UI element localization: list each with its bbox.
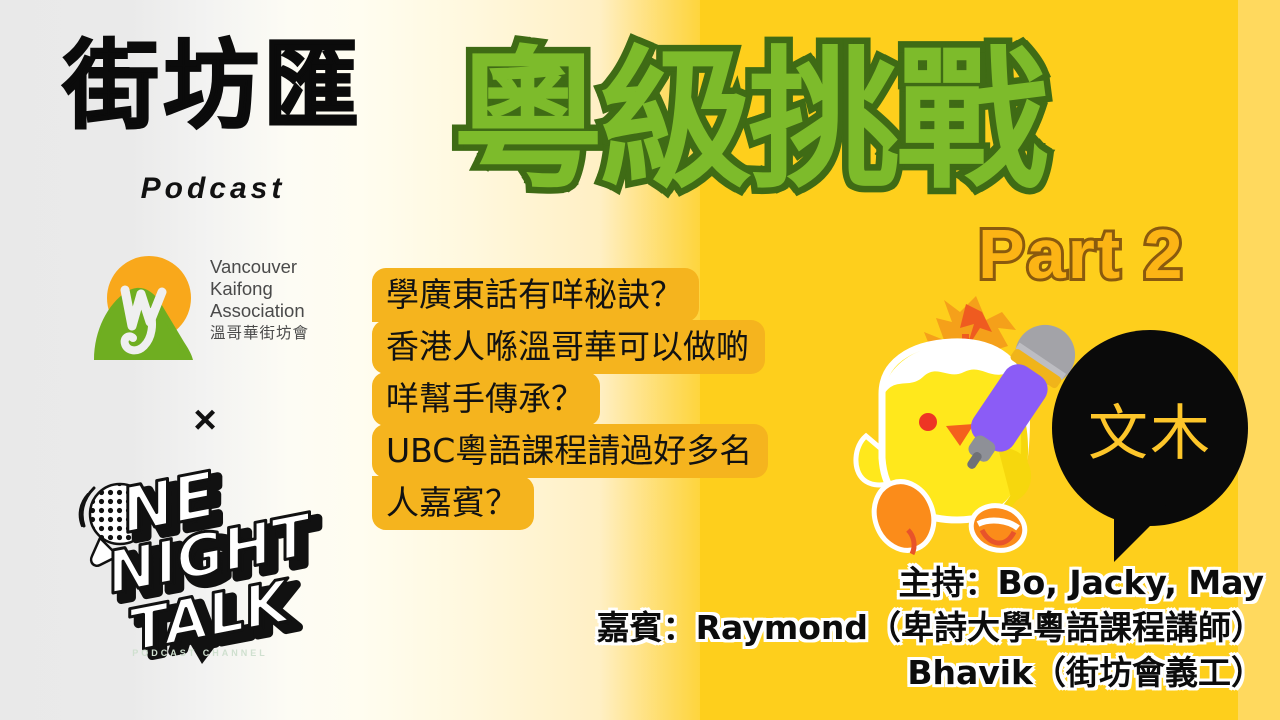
question-line: 咩幫手傳承？ xyxy=(372,372,600,426)
partner-separator-x: × xyxy=(160,398,250,443)
vka-sun-mountain-icon xyxy=(92,252,202,364)
vka-name-block: Vancouver Kaifong Association 溫哥華街坊會 xyxy=(210,256,344,343)
episode-title: 粵級挑戰 xyxy=(452,26,1192,216)
poster-canvas: 街坊匯 Podcast Vancouver Kaifong Associatio… xyxy=(0,0,1280,720)
vka-name-line1: Vancouver xyxy=(210,256,344,278)
credits-block: 主持：Bo, Jacky, May 嘉賓：Raymond（卑詩大學粵語課程講師）… xyxy=(300,560,1272,695)
podcast-brand-subtitle: Podcast xyxy=(38,172,388,206)
question-line: UBC粵語課程請過好多名 xyxy=(372,424,768,478)
vancouver-kaifong-association-logo: Vancouver Kaifong Association 溫哥華街坊會 xyxy=(92,252,342,387)
credits-guests-line2: Bhavik（街坊會義工） xyxy=(300,650,1264,695)
question-line: 人嘉賓？ xyxy=(372,476,534,530)
vka-name-chinese: 溫哥華街坊會 xyxy=(210,325,344,344)
one-night-talk-logo: NE NE NIGHT NIGHT TALK TALK xyxy=(70,452,330,664)
question-highlight-block: 學廣東話有咩秘訣？ 香港人喺溫哥華可以做啲 咩幫手傳承？ UBC粵語課程請過好多… xyxy=(372,268,872,528)
vka-name-line3: Association xyxy=(210,300,344,322)
host-bubble-label: 文木 xyxy=(1052,330,1248,526)
chick-left-eye xyxy=(919,413,937,431)
one-night-talk-caption: PODCAST CHANNEL xyxy=(70,648,330,658)
vka-name-line2: Kaifong xyxy=(210,278,344,300)
podcast-brand-title: 街坊匯 xyxy=(38,38,388,134)
question-line: 學廣東話有咩秘訣？ xyxy=(372,268,699,322)
question-line: 香港人喺溫哥華可以做啲 xyxy=(372,320,765,374)
credits-guests-line1: 嘉賓：Raymond（卑詩大學粵語課程講師） xyxy=(300,605,1264,650)
credits-hosts: 主持：Bo, Jacky, May xyxy=(300,560,1264,605)
